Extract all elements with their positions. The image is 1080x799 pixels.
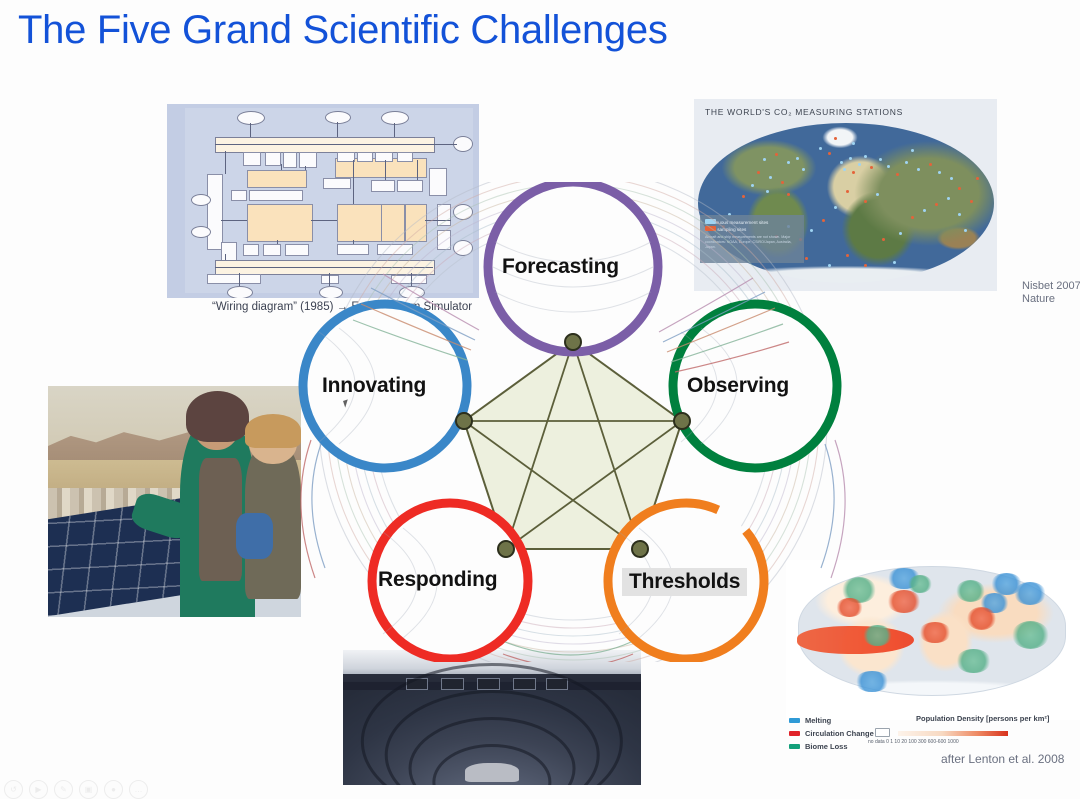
co2-map-title: THE WORLD'S CO₂ MEASURING STATIONS [705,107,903,117]
page-title: The Five Grand Scientific Challenges [18,8,668,53]
play-button[interactable]: ▶ [29,780,48,799]
label-responding[interactable]: Responding [378,568,497,592]
co2-map-credit: Nisbet 2007 Nature [1022,280,1080,306]
legend-swatch-biome [789,744,800,749]
population-density-scale-title: Population Density [persons per km²] [916,714,1049,723]
population-density-colorbar [898,731,1008,736]
wheel-svg [283,182,863,662]
label-forecasting[interactable]: Forecasting [502,255,619,279]
population-density-ticks: no data 0 1 10 20 100 300 600-600 1000 [868,739,959,745]
solar-panel-photo [48,386,301,617]
label-thresholds[interactable]: Thresholds [622,568,747,596]
label-observing[interactable]: Observing [687,374,789,398]
rewind-button[interactable]: ↺ [4,780,23,799]
annotate-button[interactable]: ✎ [54,780,73,799]
more-button[interactable]: … [129,780,148,799]
parliament-photo [343,650,641,785]
legend-label-melting: Melting [805,716,831,725]
photo-podium [465,763,519,782]
slide-canvas: The Five Grand Scientific Challenges Sch… [0,0,1080,799]
legend-swatch-circulation [789,731,800,736]
player-toolbar[interactable]: ↺ ▶ ✎ ▣ ● … [4,779,174,799]
legend-swatch-melting [789,718,800,723]
user-button[interactable]: ● [104,780,123,799]
legend-label-circulation: Circulation Change [805,729,874,738]
camera-button[interactable]: ▣ [79,780,98,799]
legend-label-biome: Biome Loss [805,742,848,751]
label-innovating[interactable]: Innovating [322,374,426,398]
lenton-map-credit: after Lenton et al. 2008 [941,752,1064,766]
no-data-swatch [875,728,890,737]
five-challenges-wheel: Forecasting Observing Thresholds Respond… [283,182,863,662]
